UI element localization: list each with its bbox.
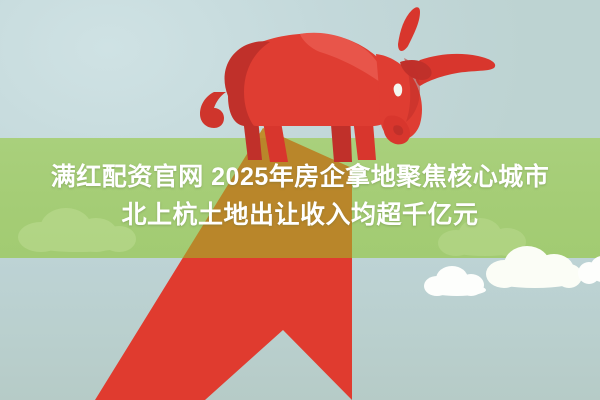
news-banner: 满红配资官网 2025年房企拿地聚焦核心城市 北上杭土地出让收入均超千亿元 — [0, 0, 600, 400]
headline-line-2: 北上杭土地出让收入均超千亿元 — [0, 196, 600, 234]
cloud-edge-icon — [578, 256, 600, 284]
headline-line-1: 满红配资官网 2025年房企拿地聚焦核心城市 — [0, 158, 600, 196]
headline: 满红配资官网 2025年房企拿地聚焦核心城市 北上杭土地出让收入均超千亿元 — [0, 158, 600, 234]
cloud-small-icon — [424, 266, 488, 296]
cloud-large-icon — [486, 246, 582, 288]
